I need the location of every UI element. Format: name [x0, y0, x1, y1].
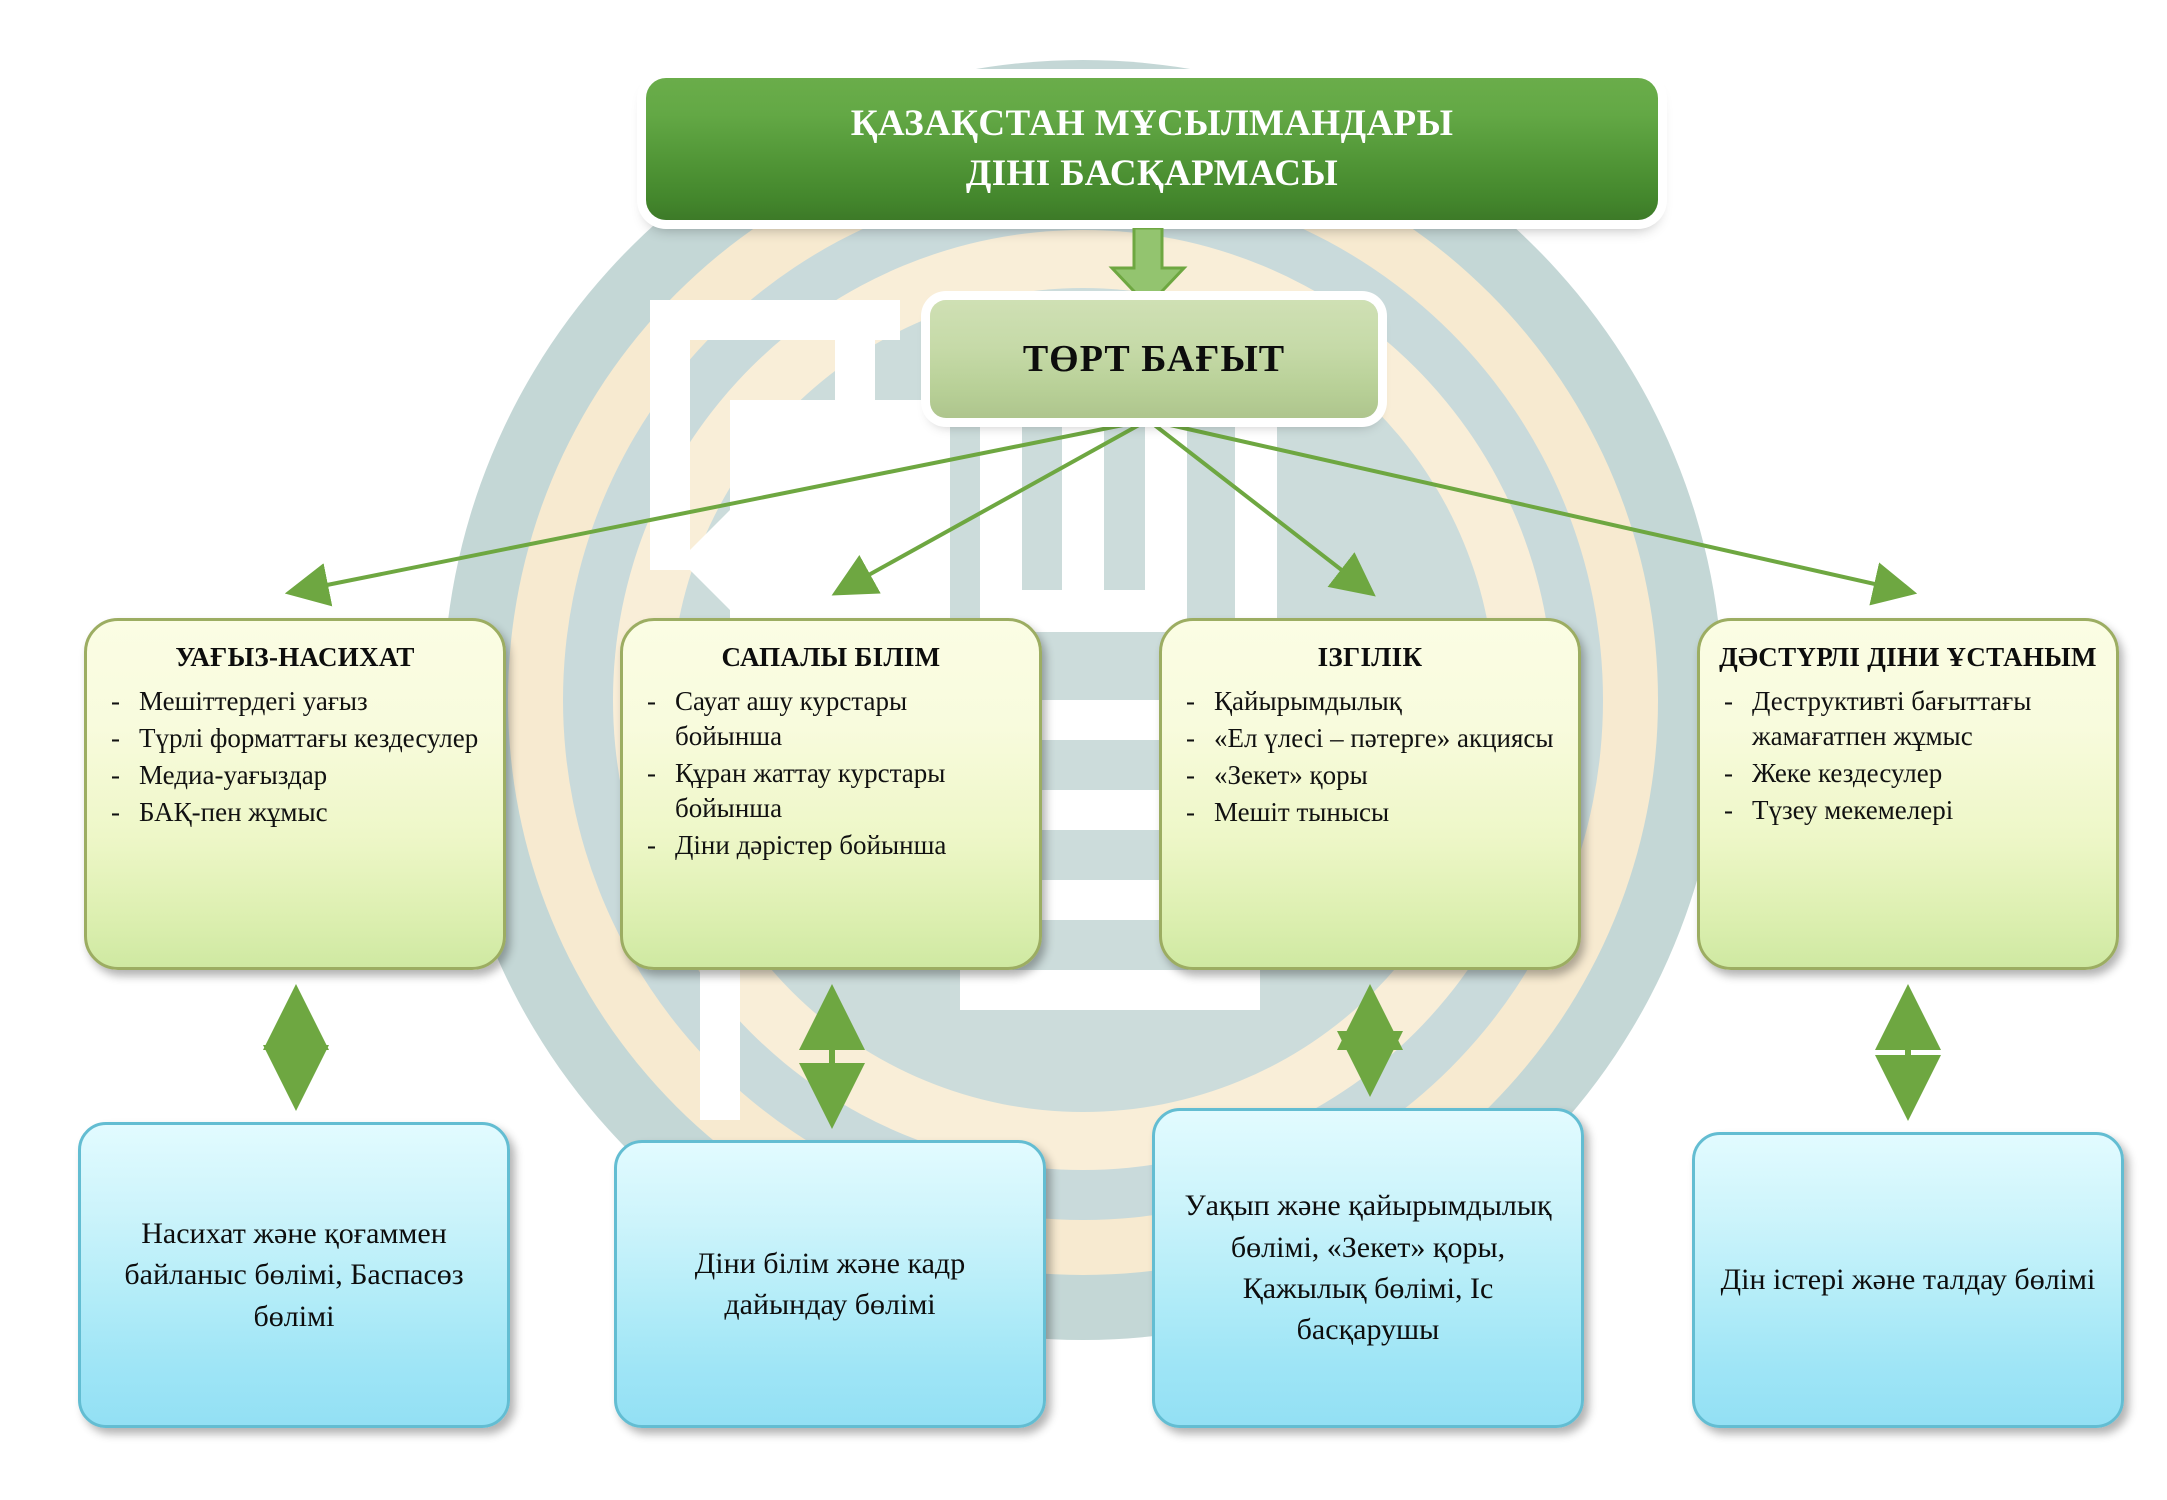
four-directions-hub-label: ТӨРТ БАҒЫТ — [1023, 337, 1285, 381]
bullet-dash: - — [1186, 758, 1200, 793]
down-arrow-icon — [1104, 228, 1192, 308]
bullet-dash: - — [647, 684, 661, 719]
category-department-connectors — [296, 995, 1908, 1118]
list-item: -Медиа-уағыздар — [111, 758, 483, 793]
department-box-dini-bilim: Діни білім және кадр дайындау бөлімі — [614, 1140, 1046, 1428]
bullet-dash: - — [111, 795, 125, 830]
organization-title-line-1: ҚАЗАҚСТАН МҰСЫЛМАНДАРЫ — [851, 99, 1454, 149]
organization-title-box: ҚАЗАҚСТАН МҰСЫЛМАНДАРЫ ДІНІ БАСҚАРМАСЫ — [646, 78, 1658, 220]
bullet-dash: - — [1186, 795, 1200, 830]
list-item: -Сауат ашу курстары бойынша — [647, 684, 1019, 754]
list-item-label: Діни дәрістер бойынша — [675, 828, 1019, 863]
organization-title-text: ҚАЗАҚСТАН МҰСЫЛМАНДАРЫ ДІНІ БАСҚАРМАСЫ — [851, 99, 1454, 198]
category-box-sapaly-bilim: САПАЛЫ БІЛІМ -Сауат ашу курстары бойынша… — [620, 618, 1042, 970]
list-item: -БАҚ-пен жұмыс — [111, 795, 483, 830]
list-item: -Мешіттердегі уағыз — [111, 684, 483, 719]
list-item-label: «Ел үлесі – пәтерге» акциясы — [1214, 721, 1558, 756]
bullet-dash: - — [1186, 684, 1200, 719]
category-title: ІЗГІЛІК — [1176, 641, 1564, 674]
category-box-dasturli-dini-ustanym: ДӘСТҮРЛІ ДІНИ ҰСТАНЫМ -Деструктивті бағы… — [1697, 618, 2119, 970]
list-item: -Деструктивті бағыттағы жамағатпен жұмыс — [1724, 684, 2096, 754]
list-item-label: БАҚ-пен жұмыс — [139, 795, 483, 830]
bullet-dash: - — [1724, 684, 1738, 719]
list-item-label: Түзеу мекемелері — [1752, 793, 2096, 828]
department-label: Уақып және қайырымдылық бөлімі, «Зекет» … — [1155, 1185, 1581, 1351]
category-item-list: -Сауат ашу курстары бойынша -Құран жатта… — [637, 684, 1025, 863]
list-item-label: Мешіттердегі уағыз — [139, 684, 483, 719]
department-label: Діни білім және кадр дайындау бөлімі — [617, 1243, 1043, 1326]
bullet-dash: - — [647, 828, 661, 863]
list-item-label: Құран жаттау курстары бойынша — [675, 756, 1019, 826]
bullet-dash: - — [647, 756, 661, 791]
bullet-dash: - — [111, 684, 125, 719]
list-item: -Құран жаттау курстары бойынша — [647, 756, 1019, 826]
list-item-label: Қайырымдылық — [1214, 684, 1558, 719]
list-item: -Мешіт тынысы — [1186, 795, 1558, 830]
list-item: -Түзеу мекемелері — [1724, 793, 2096, 828]
category-title: УАҒЫЗ-НАСИХАТ — [101, 641, 489, 674]
list-item-label: Деструктивті бағыттағы жамағатпен жұмыс — [1752, 684, 2096, 754]
bullet-dash: - — [1724, 793, 1738, 828]
list-item: -Қайырымдылық — [1186, 684, 1558, 719]
category-box-uagyz-nasikhat: УАҒЫЗ-НАСИХАТ -Мешіттердегі уағыз -Түрлі… — [84, 618, 506, 970]
bullet-dash: - — [111, 758, 125, 793]
department-label: Дін істері және талдау бөлімі — [1707, 1259, 2110, 1300]
list-item: -Діни дәрістер бойынша — [647, 828, 1019, 863]
category-item-list: -Деструктивті бағыттағы жамағатпен жұмыс… — [1714, 684, 2102, 828]
bullet-dash: - — [1724, 756, 1738, 791]
category-title: САПАЛЫ БІЛІМ — [637, 641, 1025, 674]
list-item-label: Медиа-уағыздар — [139, 758, 483, 793]
list-item: -Жеке кездесулер — [1724, 756, 2096, 791]
connector-hub-to-cat-0 — [292, 420, 1148, 592]
bullet-dash: - — [111, 721, 125, 756]
department-label: Насихат және қоғаммен байланыс бөлімі, Б… — [81, 1213, 507, 1337]
list-item-label: Жеке кездесулер — [1752, 756, 2096, 791]
list-item-label: Сауат ашу курстары бойынша — [675, 684, 1019, 754]
category-item-list: -Мешіттердегі уағыз -Түрлі форматтағы ке… — [101, 684, 489, 830]
list-item: -«Зекет» қоры — [1186, 758, 1558, 793]
category-item-list: -Қайырымдылық -«Ел үлесі – пәтерге» акци… — [1176, 684, 1564, 830]
connector-hub-to-cat-1 — [838, 420, 1148, 592]
connector-hub-to-cat-2 — [1148, 420, 1370, 592]
department-box-uakyp-kaiyrymdylyk: Уақып және қайырымдылық бөлімі, «Зекет» … — [1152, 1108, 1584, 1428]
bullet-dash: - — [1186, 721, 1200, 756]
category-box-izgilik: ІЗГІЛІК -Қайырымдылық -«Ел үлесі – пәтер… — [1159, 618, 1581, 970]
organization-title-line-2: ДІНІ БАСҚАРМАСЫ — [851, 149, 1454, 199]
department-box-din-isteri: Дін істері және талдау бөлімі — [1692, 1132, 2124, 1428]
list-item: -Түрлі форматтағы кездесулер — [111, 721, 483, 756]
connector-hub-to-cat-3 — [1148, 420, 1910, 592]
list-item: -«Ел үлесі – пәтерге» акциясы — [1186, 721, 1558, 756]
four-directions-hub-box: ТӨРТ БАҒЫТ — [930, 300, 1378, 418]
department-box-nasikhat: Насихат және қоғаммен байланыс бөлімі, Б… — [78, 1122, 510, 1428]
hub-fanout-connectors — [292, 420, 1910, 592]
list-item-label: Мешіт тынысы — [1214, 795, 1558, 830]
list-item-label: Түрлі форматтағы кездесулер — [139, 721, 483, 756]
list-item-label: «Зекет» қоры — [1214, 758, 1558, 793]
category-title: ДӘСТҮРЛІ ДІНИ ҰСТАНЫМ — [1714, 641, 2102, 674]
